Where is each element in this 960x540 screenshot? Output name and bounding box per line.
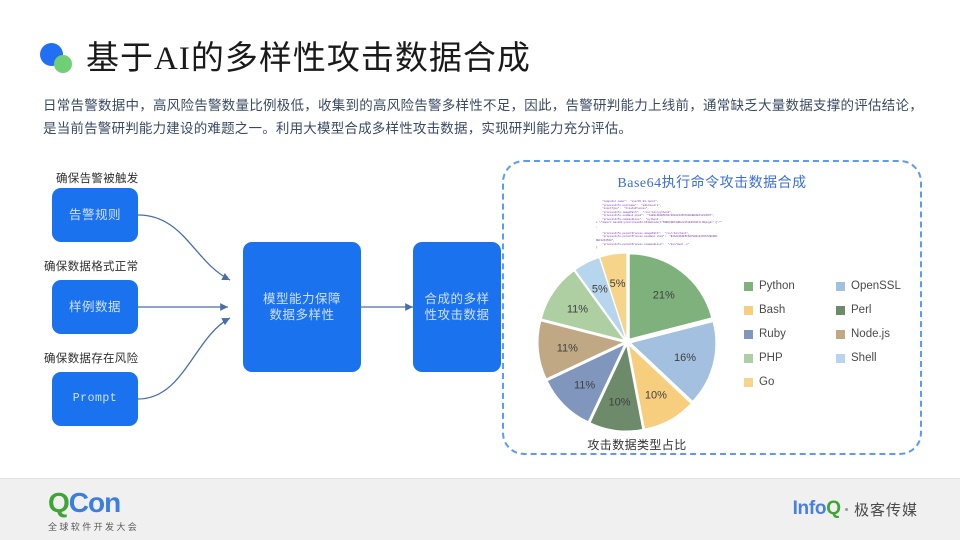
legend-item: Node.js <box>836 328 920 340</box>
pie-chart-svg: 21%16%10%10%11%11%11%5%5% <box>524 250 752 440</box>
chart-panel-title: Base64执行命令攻击数据合成 <box>504 172 920 192</box>
flow-box-model-capability-line1: 模型能力保障 <box>263 291 341 307</box>
legend-item-label: Perl <box>851 304 871 316</box>
slide-root: 基于AI的多样性攻击数据合成 日常告警数据中，高风险告警数量比例极低，收集到的高… <box>0 0 960 540</box>
flow-label-2: 确保数据格式正常 <box>44 258 138 274</box>
legend-item-label: OpenSSL <box>851 280 901 292</box>
body-paragraph: 日常告警数据中，高风险告警数量比例极低，收集到的高风险告警多样性不足，因此，告警… <box>43 94 923 140</box>
pie-slice-value-label: 16% <box>674 352 696 364</box>
flow-box-prompt-label: Prompt <box>73 391 117 407</box>
flow-box-prompt: Prompt <box>52 372 138 426</box>
legend-swatch-icon <box>744 306 753 315</box>
legend-item-label: PHP <box>759 352 783 364</box>
qcon-logo-wordmark: QCon <box>48 488 139 518</box>
legend-item-label: Bash <box>759 304 785 316</box>
footer-divider <box>0 478 960 479</box>
pie-chart: 21%16%10%10%11%11%11%5%5% <box>524 250 752 440</box>
pie-slice-value-label: 21% <box>653 290 675 302</box>
json-code-block: "computer.name": "userPC-01.local", "pro… <box>596 200 896 250</box>
pie-slice-value-label: 10% <box>645 390 667 402</box>
pie-chart-caption: 攻击数据类型占比 <box>522 436 752 453</box>
flow-box-model-capability: 模型能力保障 数据多样性 <box>243 242 361 372</box>
pie-slice-value-label: 11% <box>567 303 588 315</box>
infoq-logo: InfoQ 极客传媒 <box>793 498 918 520</box>
bullet-green-circle-icon <box>54 55 72 73</box>
qcon-logo-q: Q <box>48 487 69 518</box>
legend-swatch-icon <box>744 282 753 291</box>
pie-chart-legend: PythonOpenSSLBashPerlRubyNode.jsPHPShell… <box>744 280 920 388</box>
legend-item-label: Shell <box>851 352 877 364</box>
infoq-logo-cn: 极客传媒 <box>854 499 918 520</box>
legend-item-label: Go <box>759 376 774 388</box>
infoq-logo-info: Info <box>793 498 827 520</box>
flow-box-sample-data: 样例数据 <box>52 280 138 334</box>
legend-item: Bash <box>744 304 828 316</box>
flow-box-synth-output-line1: 合成的多样 <box>424 291 489 307</box>
legend-swatch-icon <box>744 378 753 387</box>
bullet-logo-icon <box>40 41 76 77</box>
legend-item: Python <box>744 280 828 292</box>
flow-box-model-capability-line2: 数据多样性 <box>269 307 334 323</box>
body-paragraph-text: 日常告警数据中，高风险告警数量比例极低，收集到的高风险告警多样性不足，因此，告警… <box>43 94 923 140</box>
flow-box-alert-rule: 告警规则 <box>52 188 138 242</box>
flow-label-3: 确保数据存在风险 <box>44 350 138 366</box>
qcon-logo: QCon 全球软件开发大会 <box>48 488 139 533</box>
legend-item-label: Ruby <box>759 328 786 340</box>
pie-slice-value-label: 11% <box>557 343 578 355</box>
pie-slice-value-label: 10% <box>608 396 630 408</box>
flow-label-1: 确保告警被触发 <box>56 170 139 186</box>
legend-swatch-icon <box>836 330 845 339</box>
legend-item: Perl <box>836 304 920 316</box>
footer-bar: QCon 全球软件开发大会 InfoQ 极客传媒 <box>0 478 960 540</box>
legend-item: OpenSSL <box>836 280 920 292</box>
qcon-logo-subtitle: 全球软件开发大会 <box>48 520 139 533</box>
legend-item-label: Node.js <box>851 328 890 340</box>
qcon-logo-con: Con <box>69 487 120 518</box>
legend-item: Go <box>744 376 828 388</box>
legend-swatch-icon <box>744 330 753 339</box>
infoq-logo-separator-icon <box>845 508 848 511</box>
legend-swatch-icon <box>836 306 845 315</box>
pie-slice-value-label: 11% <box>574 379 595 391</box>
flowchart: 确保告警被触发 告警规则 确保数据格式正常 样例数据 确保数据存在风险 Prom… <box>34 162 494 442</box>
legend-item: Shell <box>836 352 920 364</box>
pie-slice-value-label: 5% <box>592 284 608 296</box>
pie-slice-value-label: 5% <box>610 278 626 290</box>
legend-item: Ruby <box>744 328 828 340</box>
title-text: 基于AI的多样性攻击数据合成 <box>86 41 531 77</box>
legend-swatch-icon <box>836 354 845 363</box>
legend-item: PHP <box>744 352 828 364</box>
legend-swatch-icon <box>744 354 753 363</box>
flow-box-synth-output: 合成的多样 性攻击数据 <box>413 242 501 372</box>
legend-item-label: Python <box>759 280 795 292</box>
flow-box-alert-rule-label: 告警规则 <box>69 207 121 223</box>
page-title: 基于AI的多样性攻击数据合成 <box>40 34 740 84</box>
flow-box-sample-data-label: 样例数据 <box>69 299 121 315</box>
infoq-logo-q: Q <box>826 498 841 520</box>
legend-swatch-icon <box>836 282 845 291</box>
flow-box-synth-output-line2: 性攻击数据 <box>424 307 489 323</box>
chart-panel: Base64执行命令攻击数据合成 "computer.name": "userP… <box>502 160 922 455</box>
